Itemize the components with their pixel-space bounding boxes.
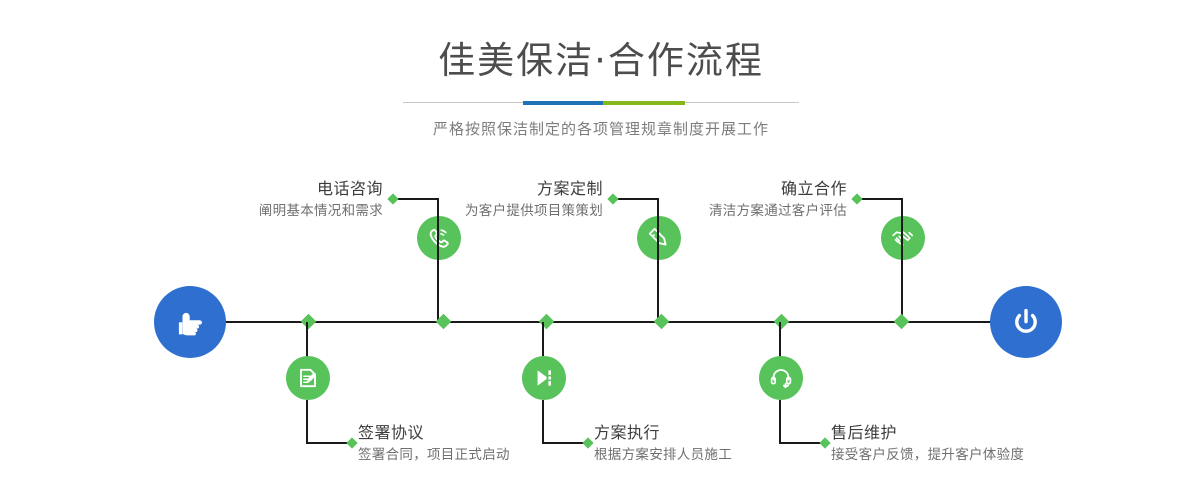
timeline: 电话咨询 阐明基本情况和需求 签署协议 签署合同，项目正式启动: [0, 150, 1202, 502]
label-connector-vertical: [779, 400, 781, 444]
label-connector-vertical: [542, 400, 544, 444]
handshake-icon: [890, 225, 916, 251]
page-header: 佳美保洁·合作流程 严格按照保洁制定的各项管理规章制度开展工作: [0, 0, 1202, 139]
step-icon-document-edit: [286, 356, 330, 400]
pointing-hand-icon: [170, 302, 210, 342]
page-title: 佳美保洁·合作流程: [0, 0, 1202, 84]
play-skip-icon: [531, 365, 557, 391]
divider-segment-blue: [523, 101, 603, 105]
step-icon-play-skip: [522, 356, 566, 400]
label-connector-vertical: [306, 400, 308, 444]
step-title: 确立合作: [559, 178, 847, 200]
node-stem: [437, 260, 439, 322]
step-icon-pencil-ruler: [637, 216, 681, 260]
timeline-axis: [160, 321, 1042, 323]
step-icon-headset-support: [759, 356, 803, 400]
headset-support-icon: [768, 365, 794, 391]
axis-node-marker: [774, 314, 790, 330]
axis-node-marker: [894, 314, 910, 330]
step-icon-handshake: [881, 216, 925, 260]
document-edit-icon: [295, 365, 321, 391]
label-connector-horizontal: [857, 198, 903, 200]
step-icon-phone-call: [417, 216, 461, 260]
step-desc: 清洁方案通过客户评估: [559, 200, 847, 222]
title-divider: [403, 100, 799, 106]
step-desc: 接受客户反馈，提升客户体验度: [831, 444, 1161, 466]
phone-call-icon: [426, 225, 452, 251]
node-stem: [657, 260, 659, 322]
timeline-start-endpoint: [154, 286, 226, 358]
process-flow-infographic: 佳美保洁·合作流程 严格按照保洁制定的各项管理规章制度开展工作: [0, 0, 1202, 502]
step-label-6: 售后维护 接受客户反馈，提升客户体验度: [831, 422, 1161, 466]
label-connector-tip: [346, 437, 357, 448]
label-connector-vertical: [901, 198, 903, 260]
step-title: 售后维护: [831, 422, 1161, 444]
timeline-end-endpoint: [990, 286, 1062, 358]
pencil-ruler-icon: [646, 225, 672, 251]
step-label-5: 确立合作 清洁方案通过客户评估: [559, 178, 847, 222]
axis-node-marker: [301, 314, 317, 330]
label-connector-tip: [851, 193, 862, 204]
divider-segment-green: [603, 101, 685, 105]
page-subtitle: 严格按照保洁制定的各项管理规章制度开展工作: [0, 106, 1202, 139]
power-icon: [1006, 302, 1046, 342]
